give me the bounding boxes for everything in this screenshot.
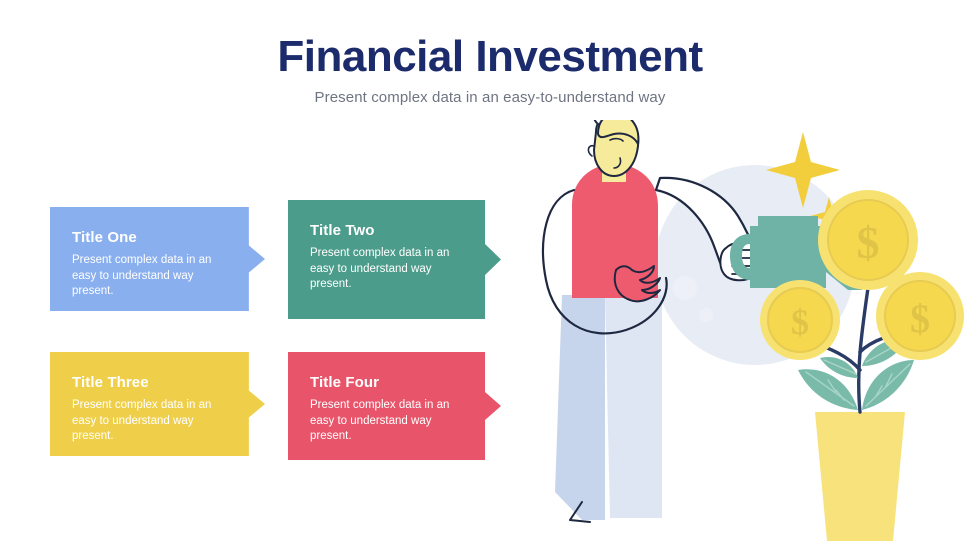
info-card-four-body: Present complex data in an easy to under… (310, 398, 462, 445)
svg-text:$: $ (791, 302, 809, 342)
info-card-list: Title One Present complex data in an eas… (0, 0, 520, 551)
svg-text:$: $ (857, 217, 880, 268)
bubble-icon-small (699, 308, 713, 322)
info-card-three[interactable]: Title Three Present complex data in an e… (50, 352, 265, 456)
info-card-one-title: Title One (72, 229, 243, 246)
person-left-hand-icon (615, 266, 660, 301)
slide-canvas: Financial Investment Present complex dat… (0, 0, 980, 551)
info-card-four-title: Title Four (310, 374, 479, 391)
plant-pot (815, 412, 905, 541)
info-card-two-title: Title Two (310, 222, 479, 239)
bubble-icon-large (673, 276, 697, 300)
coin-icon-top: $ (818, 190, 918, 290)
info-card-two-body: Present complex data in an easy to under… (310, 246, 462, 293)
coin-icon-right: $ (876, 272, 964, 360)
svg-text:$: $ (910, 296, 930, 341)
person-pants-right (605, 295, 662, 518)
info-card-two[interactable]: Title Two Present complex data in an eas… (288, 200, 501, 319)
info-card-four[interactable]: Title Four Present complex data in an ea… (288, 352, 501, 460)
info-card-three-body: Present complex data in an easy to under… (72, 398, 224, 445)
info-card-three-title: Title Three (72, 374, 243, 391)
illustration-person-watering-money-plant: $ $ $ (510, 120, 980, 551)
info-card-one[interactable]: Title One Present complex data in an eas… (50, 207, 265, 311)
coin-icon-left: $ (760, 280, 840, 360)
info-card-one-body: Present complex data in an easy to under… (72, 253, 224, 300)
